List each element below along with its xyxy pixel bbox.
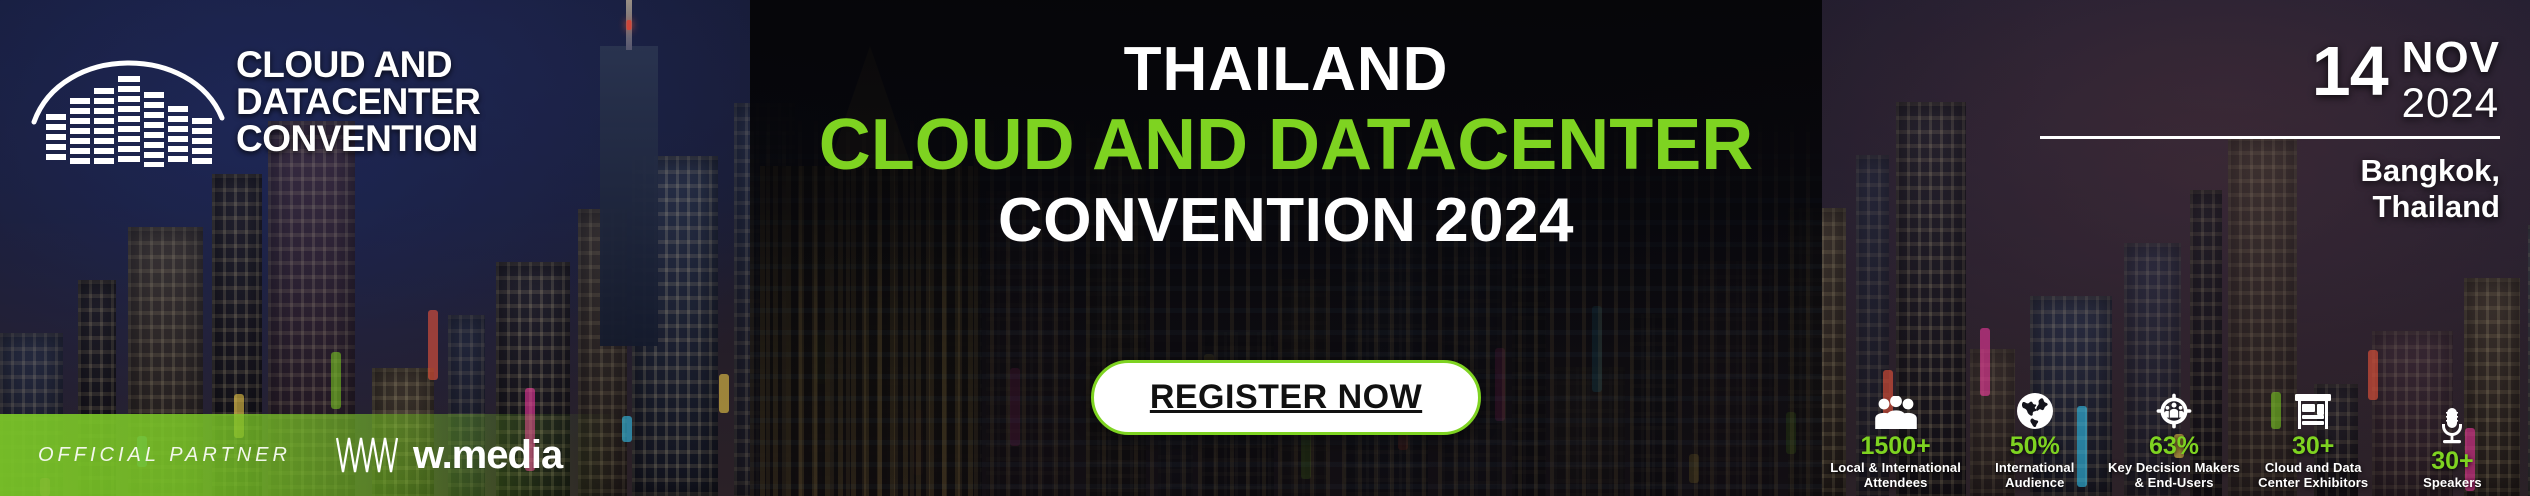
stat-label-line-1: Key Decision Makers xyxy=(2106,460,2241,475)
neon-light xyxy=(622,416,632,442)
cta-wrapper: REGISTER NOW xyxy=(750,360,1822,435)
register-now-button[interactable]: REGISTER NOW xyxy=(1091,360,1481,435)
stat-label-line-1: Cloud and Data xyxy=(2246,460,2381,475)
neon-light xyxy=(719,374,729,413)
stat-value: 63% xyxy=(2106,433,2241,460)
event-location-line-1: Bangkok, xyxy=(2040,153,2500,189)
logo-line-3: CONVENTION xyxy=(236,120,480,157)
headline-line-country: THAILAND xyxy=(750,34,1822,106)
headline-line-event: CLOUD AND DATACENTER xyxy=(750,106,1822,184)
neon-light xyxy=(1980,328,1990,396)
stat-label-line-2: & End-Users xyxy=(2106,475,2241,490)
stat-value: 30+ xyxy=(2385,448,2520,475)
stat-value: 1500+ xyxy=(1828,433,1963,460)
stat-label-line-1: Local & International xyxy=(1828,460,1963,475)
logo-line-2: DATACENTER xyxy=(236,83,480,120)
official-partner-bar: OFFICIAL PARTNER w.media xyxy=(0,414,620,496)
logo-wordmark: CLOUD AND DATACENTER CONVENTION xyxy=(236,46,480,157)
date-divider xyxy=(2040,136,2500,139)
event-month: NOV xyxy=(2402,36,2500,80)
stat-label-line-2: Attendees xyxy=(1828,475,1963,490)
headline-block: THAILAND CLOUD AND DATACENTER CONVENTION… xyxy=(750,34,1822,258)
stat-label-line-2: Center Exhibitors xyxy=(2246,475,2381,490)
stat-label-line-1: International xyxy=(1967,460,2102,475)
exhibition-booth-icon xyxy=(2246,390,2381,430)
stat-item: 50% International Audience xyxy=(1967,390,2102,490)
logo-line-1: CLOUD AND xyxy=(236,46,480,83)
event-banner: CLOUD AND DATACENTER CONVENTION THAILAND… xyxy=(0,0,2530,496)
skyline-arc-logo-icon xyxy=(28,18,228,168)
event-day: 14 xyxy=(2312,36,2388,106)
brand-logo[interactable]: CLOUD AND DATACENTER CONVENTION xyxy=(28,18,548,168)
people-group-icon xyxy=(1828,390,1963,430)
stat-value: 50% xyxy=(1967,433,2102,460)
headline-line-convention-year: CONVENTION 2024 xyxy=(750,184,1822,258)
stat-value: 30+ xyxy=(2246,433,2381,460)
event-year: 2024 xyxy=(2402,80,2500,126)
wmedia-wordmark: w.media xyxy=(413,435,562,475)
stat-item: 30+ Cloud and Data Center Exhibitors xyxy=(2246,390,2381,490)
neon-light xyxy=(428,310,438,380)
target-people-icon xyxy=(2106,390,2241,430)
stat-item: 30+ Speakers xyxy=(2385,405,2520,490)
stat-label-line-1: Speakers xyxy=(2385,475,2520,490)
official-partner-label: OFFICIAL PARTNER xyxy=(38,444,291,467)
stat-item: 63% Key Decision Makers & End-Users xyxy=(2106,390,2241,490)
neon-light xyxy=(331,352,341,409)
microphone-icon xyxy=(2385,405,2520,445)
wmedia-logo[interactable]: w.media xyxy=(333,434,562,476)
month-year-group: NOV 2024 xyxy=(2402,36,2500,126)
stat-item: 1500+ Local & International Attendees xyxy=(1828,390,1963,490)
stat-label-line-2: Audience xyxy=(1967,475,2102,490)
stats-row: 1500+ Local & International Attendees 50… xyxy=(1828,390,2520,490)
globe-icon xyxy=(1967,390,2102,430)
zigzag-w-icon xyxy=(333,434,405,476)
date-row: 14 NOV 2024 xyxy=(2040,36,2500,126)
spire-tower xyxy=(600,46,658,346)
event-location-line-2: Thailand xyxy=(2040,189,2500,225)
date-location-block: 14 NOV 2024 Bangkok, Thailand xyxy=(2040,36,2500,225)
